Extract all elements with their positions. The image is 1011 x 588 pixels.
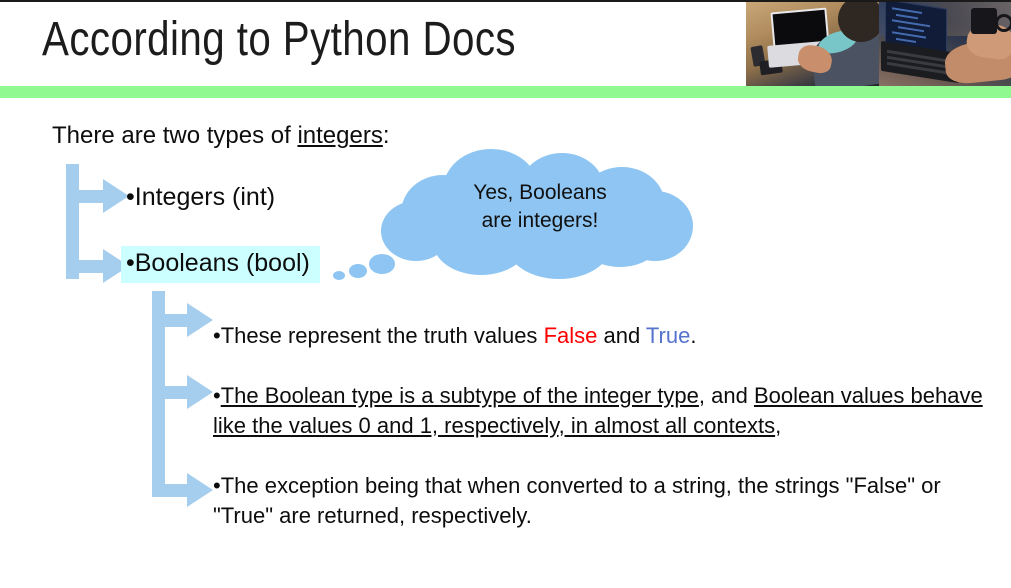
cloud-line-1: Yes, Booleans [381, 179, 699, 207]
text-run: True [646, 323, 690, 348]
arrow-stem [152, 386, 190, 399]
photo-person-typing-white-laptop [746, 2, 879, 87]
text-run: False [544, 323, 598, 348]
text-run: The Boolean type is a subtype of the int… [221, 383, 699, 408]
thought-tail-medium [349, 264, 367, 278]
sub-bullet-string-conversion: •The exception being that when converted… [213, 471, 1003, 530]
arrow-stem [66, 260, 106, 273]
bullet-marker: • [213, 383, 221, 408]
text-run: , [775, 413, 781, 438]
sub-bullet-truth-values: •These represent the truth values False … [213, 321, 696, 351]
arrow-stem [152, 484, 190, 497]
green-divider-bar [0, 86, 1011, 98]
coffee-mug-icon [971, 8, 997, 34]
mug-handle-icon [995, 14, 1011, 32]
sub-bullet-subtype: •The Boolean type is a subtype of the in… [213, 381, 1003, 440]
arrow-head-icon [187, 303, 213, 337]
bullet-marker: • [213, 473, 221, 498]
slide-canvas: According to Python Docs [0, 0, 1011, 588]
arrow-head-icon [187, 375, 213, 409]
intro-prefix: There are two types of [52, 122, 297, 149]
text-run: The exception being that when converted … [213, 473, 941, 528]
photo-hands-coding-dark-laptop [879, 2, 1011, 87]
text-run: These represent the truth values [221, 323, 544, 348]
thought-tail-large [369, 254, 395, 274]
arrow-stem [152, 314, 190, 327]
bullet-integers: •Integers (int) [126, 183, 275, 212]
bullet-marker: • [213, 323, 221, 348]
thought-cloud-text: Yes, Booleans are integers! [381, 179, 699, 234]
text-run: and [597, 323, 646, 348]
thought-cloud: Yes, Booleans are integers! [381, 149, 699, 279]
intro-underlined-word: integers [297, 122, 382, 149]
arrow-stem [66, 190, 106, 203]
text-run: , and [699, 383, 754, 408]
intro-line: There are two types of integers: [52, 122, 390, 150]
intro-suffix: : [383, 122, 390, 149]
bullet-booleans: •Booleans (bool) [126, 249, 310, 277]
text-run: . [690, 323, 696, 348]
page-title: According to Python Docs [42, 12, 516, 67]
header-photo-strip [746, 2, 1011, 87]
cloud-line-2: are integers! [381, 207, 699, 235]
bullet-booleans-highlight: •Booleans (bool) [121, 246, 320, 283]
thought-tail-small [333, 271, 345, 280]
arrow-head-icon [187, 473, 213, 507]
